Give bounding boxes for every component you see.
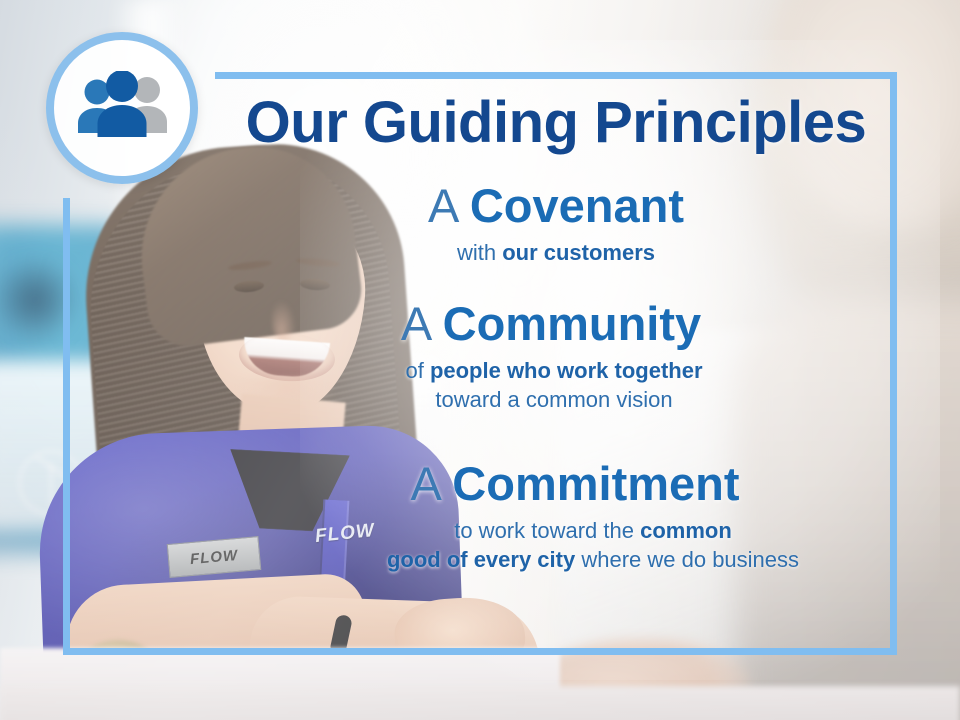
principle-commitment-word: Commitment — [452, 457, 739, 510]
principle-covenant-article: A — [428, 179, 457, 232]
principle-community-sub-bold-1: people who work together — [430, 358, 703, 383]
principle-commitment-sub-plain-1: to work toward the — [454, 518, 640, 543]
guiding-principles-graphic: FLOW FLOW Our Guiding — [0, 0, 960, 720]
principle-community: A Community of people who work together … — [215, 300, 897, 414]
principle-commitment-sub-bold-1: common — [640, 518, 732, 543]
people-group-icon — [76, 71, 168, 145]
principle-commitment-sub-plain-3: where we do business — [575, 547, 799, 572]
principle-community-heading: A Community — [215, 300, 897, 349]
people-badge — [46, 32, 198, 184]
principle-community-sub-plain-2: toward a common vision — [435, 387, 672, 412]
principle-covenant-subtext: with our customers — [215, 238, 897, 267]
principle-covenant-word: Covenant — [470, 179, 684, 232]
blurred-car-shadow — [0, 255, 80, 345]
principle-commitment-article: A — [410, 457, 439, 510]
principle-covenant-sub-plain-1: with — [457, 240, 502, 265]
principle-commitment-subtext: to work toward the common good of every … — [215, 516, 897, 574]
desk-surface-front — [0, 686, 960, 720]
principle-covenant-sub-bold-1: our customers — [502, 240, 655, 265]
principle-community-word: Community — [443, 297, 702, 350]
principle-commitment: A Commitment to work toward the common g… — [215, 460, 897, 574]
principle-community-subtext: of people who work together toward a com… — [215, 356, 897, 414]
page-title: Our Guiding Principles — [215, 94, 897, 152]
principle-covenant: A Covenant with our customers — [215, 182, 897, 267]
principle-community-sub-plain-1: of — [405, 358, 429, 383]
principle-commitment-sub-bold-2: good of every city — [387, 547, 575, 572]
principle-covenant-heading: A Covenant — [215, 182, 897, 231]
principle-community-article: A — [401, 297, 430, 350]
text-content: Our Guiding Principles A Covenant with o… — [215, 72, 897, 655]
principle-commitment-heading: A Commitment — [215, 460, 897, 509]
